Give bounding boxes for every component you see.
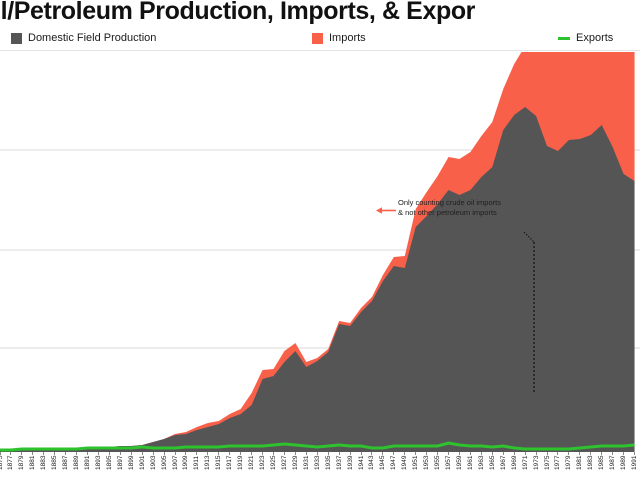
x-axis-tick-label: 1933 xyxy=(313,456,322,480)
x-axis-tick-mark xyxy=(196,452,197,455)
x-axis-tick-label: 1943 xyxy=(367,456,376,480)
x-axis-tick: 1901 xyxy=(138,452,147,480)
x-axis-tick-label: 1941 xyxy=(357,456,366,480)
chart-page: . Oil/Petroleum Production, Imports, & E… xyxy=(0,0,640,480)
x-axis-tick: 1961 xyxy=(466,452,475,480)
x-axis-tick-label: 1981 xyxy=(575,456,584,480)
x-axis-tick-label: 1923 xyxy=(258,456,267,480)
square-swatch-icon xyxy=(11,33,22,44)
x-axis-tick-mark xyxy=(142,452,143,455)
x-axis-tick: 1897 xyxy=(116,452,125,480)
x-axis-tick-mark xyxy=(262,452,263,455)
x-axis-tick-label: 1945 xyxy=(378,456,387,480)
x-axis-tick-mark xyxy=(240,452,241,455)
x-axis-tick-label: 1917 xyxy=(225,456,234,480)
x-axis-tick-mark xyxy=(459,452,460,455)
x-axis-tick: 1973 xyxy=(532,452,541,480)
x-axis-tick-label: 1991 xyxy=(630,456,639,480)
x-axis-tick-mark xyxy=(109,452,110,455)
x-axis-tick: 1911 xyxy=(192,452,201,480)
x-axis-tick: 1895 xyxy=(105,452,114,480)
x-axis-tick: 1969 xyxy=(510,452,519,480)
x-axis-tick-label: 1915 xyxy=(214,456,223,480)
x-axis-tick-mark xyxy=(131,452,132,455)
x-axis-tick-mark xyxy=(65,452,66,455)
x-axis-tick-label: 1913 xyxy=(203,456,212,480)
legend-label: Exports xyxy=(576,32,613,44)
x-axis-tick-mark xyxy=(120,452,121,455)
x-axis-tick: 1967 xyxy=(499,452,508,480)
x-axis-tick-mark xyxy=(153,452,154,455)
x-axis-tick: 1879 xyxy=(17,452,26,480)
x-axis-tick: 1899 xyxy=(127,452,136,480)
x-axis-tick-mark xyxy=(371,452,372,455)
x-axis-tick-mark xyxy=(525,452,526,455)
x-axis-tick-label: 1967 xyxy=(499,456,508,480)
x-axis-tick-label: 1971 xyxy=(521,456,530,480)
x-axis-tick-label: 1989 xyxy=(619,456,628,480)
x-axis-tick-label: 1951 xyxy=(411,456,420,480)
x-axis-tick-mark xyxy=(415,452,416,455)
x-axis-tick-label: 1931 xyxy=(302,456,311,480)
x-axis-tick-mark xyxy=(350,452,351,455)
annotation-arrow-icon xyxy=(376,206,396,215)
area-domestic-field-production xyxy=(0,107,635,452)
x-axis-tick-mark xyxy=(87,452,88,455)
x-axis-tick: 1955 xyxy=(433,452,442,480)
x-axis-tick-label: 1879 xyxy=(17,456,26,480)
legend-label: Domestic Field Production xyxy=(28,32,156,44)
x-axis-tick-label: 1927 xyxy=(280,456,289,480)
chart-plot-area xyxy=(0,52,640,452)
x-axis-tick: 1903 xyxy=(149,452,158,480)
x-axis-tick-label: 1901 xyxy=(138,456,147,480)
x-axis-tick-mark xyxy=(514,452,515,455)
x-axis-tick: 1931 xyxy=(302,452,311,480)
x-axis-tick-label: 1909 xyxy=(181,456,190,480)
x-axis-tick-mark xyxy=(503,452,504,455)
x-axis-tick: 1889 xyxy=(72,452,81,480)
x-axis-tick: 1891 xyxy=(83,452,92,480)
x-axis-tick-label: 1887 xyxy=(61,456,70,480)
x-axis-tick-mark xyxy=(404,452,405,455)
x-axis-tick: 1915 xyxy=(214,452,223,480)
x-axis-tick: 1913 xyxy=(203,452,212,480)
x-axis-tick: 1905 xyxy=(160,452,169,480)
x-axis-tick: 1937 xyxy=(335,452,344,480)
x-axis-tick-label: 1987 xyxy=(608,456,617,480)
x-axis-tick-mark xyxy=(557,452,558,455)
x-axis-tick-mark xyxy=(76,452,77,455)
stacked-area-chart xyxy=(0,52,640,452)
x-axis-tick: 1941 xyxy=(357,452,366,480)
x-axis-tick: 1887 xyxy=(61,452,70,480)
x-axis-tick-mark xyxy=(317,452,318,455)
x-axis-tick-mark xyxy=(547,452,548,455)
x-axis-tick: 1989 xyxy=(619,452,628,480)
x-axis-tick: 1987 xyxy=(608,452,617,480)
x-axis-tick-mark xyxy=(328,452,329,455)
x-axis-tick: 1933 xyxy=(313,452,322,480)
x-axis-tick-label: 1907 xyxy=(171,456,180,480)
x-axis-tick: 1883 xyxy=(39,452,48,480)
x-axis-tick-mark xyxy=(185,452,186,455)
x-axis-tick: 1985 xyxy=(597,452,606,480)
x-axis-tick: 1947 xyxy=(389,452,398,480)
legend-label: Imports xyxy=(329,32,366,44)
legend-divider xyxy=(0,50,640,51)
x-axis-tick-label: 1935 xyxy=(324,456,333,480)
annotation-line-1: Only counting crude oil imports xyxy=(398,198,543,208)
x-axis-tick-label: 1889 xyxy=(72,456,81,480)
x-axis-tick-label: 1977 xyxy=(553,456,562,480)
x-axis-tick: 1977 xyxy=(553,452,562,480)
x-axis-tick-mark xyxy=(10,452,11,455)
x-axis-tick: 1979 xyxy=(564,452,573,480)
x-axis-tick: 1923 xyxy=(258,452,267,480)
x-axis-tick-label: 1965 xyxy=(488,456,497,480)
x-axis-tick-mark xyxy=(382,452,383,455)
x-axis-tick-label: 1925 xyxy=(269,456,278,480)
x-axis-tick-mark xyxy=(43,452,44,455)
x-axis-tick-label: 1929 xyxy=(291,456,300,480)
title-bar: . Oil/Petroleum Production, Imports, & E… xyxy=(0,0,640,27)
x-axis-tick-mark xyxy=(207,452,208,455)
x-axis-tick-mark xyxy=(0,452,1,455)
x-axis-tick: 1927 xyxy=(280,452,289,480)
x-axis-tick: 1921 xyxy=(247,452,256,480)
x-axis-tick: 1929 xyxy=(291,452,300,480)
x-axis-tick-mark xyxy=(492,452,493,455)
x-axis-tick-mark xyxy=(54,452,55,455)
x-axis-tick-label: 1979 xyxy=(564,456,573,480)
line-swatch-icon xyxy=(558,37,570,40)
x-axis-tick-mark xyxy=(229,452,230,455)
x-axis-tick-label: 1875 xyxy=(0,456,5,480)
x-axis-tick-label: 1885 xyxy=(50,456,59,480)
x-axis-tick-mark xyxy=(437,452,438,455)
x-axis-tick-mark xyxy=(481,452,482,455)
x-axis-tick-label: 1893 xyxy=(94,456,103,480)
x-axis-tick-label: 1937 xyxy=(335,456,344,480)
x-axis-tick-label: 1877 xyxy=(6,456,15,480)
x-axis-tick-label: 1895 xyxy=(105,456,114,480)
x-axis-tick: 1971 xyxy=(521,452,530,480)
chart-legend: Domestic Field Production Imports Export… xyxy=(0,29,640,47)
x-axis-tick: 1885 xyxy=(50,452,59,480)
x-axis-tick: 1983 xyxy=(586,452,595,480)
x-axis-tick-label: 1919 xyxy=(236,456,245,480)
x-axis-tick: 1949 xyxy=(400,452,409,480)
x-axis-tick-label: 1903 xyxy=(149,456,158,480)
x-axis-tick-mark xyxy=(568,452,569,455)
x-axis-tick: 1981 xyxy=(575,452,584,480)
x-axis-tick-label: 1959 xyxy=(455,456,464,480)
x-axis-tick-mark xyxy=(448,452,449,455)
x-axis-tick: 1991 xyxy=(630,452,639,480)
x-axis-tick-label: 1891 xyxy=(83,456,92,480)
x-axis-tick-mark xyxy=(218,452,219,455)
x-axis-tick: 1959 xyxy=(455,452,464,480)
x-axis-tick-mark xyxy=(273,452,274,455)
x-axis-tick: 1939 xyxy=(346,452,355,480)
x-axis-tick-label: 1939 xyxy=(346,456,355,480)
x-axis-tick-label: 1921 xyxy=(247,456,256,480)
x-axis-tick-label: 1897 xyxy=(116,456,125,480)
legend-item-domestic-field-production[interactable]: Domestic Field Production xyxy=(11,29,156,47)
x-axis-tick-mark xyxy=(175,452,176,455)
chart-annotation: Only counting crude oil imports & not ot… xyxy=(398,198,543,218)
x-axis-tick: 1881 xyxy=(28,452,37,480)
x-axis-tick-label: 1985 xyxy=(597,456,606,480)
x-axis-tick-label: 1949 xyxy=(400,456,409,480)
x-axis-tick-mark xyxy=(284,452,285,455)
page-title: . Oil/Petroleum Production, Imports, & E… xyxy=(0,0,475,25)
x-axis-tick: 1935 xyxy=(324,452,333,480)
x-axis-tick-mark xyxy=(164,452,165,455)
x-axis-tick: 1953 xyxy=(422,452,431,480)
x-axis-tick-mark xyxy=(306,452,307,455)
x-axis-tick-mark xyxy=(612,452,613,455)
x-axis-tick-label: 1961 xyxy=(466,456,475,480)
x-axis-tick-mark xyxy=(361,452,362,455)
x-axis-tick-label: 1953 xyxy=(422,456,431,480)
x-axis-tick-mark xyxy=(339,452,340,455)
x-axis-tick: 1875 xyxy=(0,452,5,480)
x-axis-tick-mark xyxy=(536,452,537,455)
x-axis-tick-label: 1957 xyxy=(444,456,453,480)
x-axis-tick: 1893 xyxy=(94,452,103,480)
x-axis-tick-label: 1955 xyxy=(433,456,442,480)
x-axis-tick: 1877 xyxy=(6,452,15,480)
x-axis-tick: 1917 xyxy=(225,452,234,480)
x-axis-tick-mark xyxy=(295,452,296,455)
x-axis-tick-mark xyxy=(634,452,635,455)
x-axis-tick-label: 1883 xyxy=(39,456,48,480)
x-axis-tick: 1945 xyxy=(378,452,387,480)
x-axis-tick-mark xyxy=(623,452,624,455)
x-axis-tick: 1909 xyxy=(181,452,190,480)
x-axis-tick-mark xyxy=(590,452,591,455)
x-axis-tick-mark xyxy=(601,452,602,455)
square-swatch-icon xyxy=(312,33,323,44)
x-axis-tick-label: 1881 xyxy=(28,456,37,480)
x-axis-tick-mark xyxy=(393,452,394,455)
x-axis-tick-label: 1911 xyxy=(192,456,201,480)
x-axis-tick-mark xyxy=(32,452,33,455)
x-axis: 1875187718791881188318851887188918911893… xyxy=(0,452,640,480)
legend-item-imports[interactable]: Imports xyxy=(312,29,366,47)
x-axis-tick: 1975 xyxy=(543,452,552,480)
x-axis-tick-label: 1969 xyxy=(510,456,519,480)
x-axis-tick: 1951 xyxy=(411,452,420,480)
x-axis-tick: 1925 xyxy=(269,452,278,480)
legend-item-exports[interactable]: Exports xyxy=(558,29,613,47)
x-axis-tick-label: 1983 xyxy=(586,456,595,480)
x-axis-tick: 1965 xyxy=(488,452,497,480)
x-axis-tick-mark xyxy=(251,452,252,455)
x-axis-tick-mark xyxy=(579,452,580,455)
x-axis-tick: 1957 xyxy=(444,452,453,480)
x-axis-tick-label: 1963 xyxy=(477,456,486,480)
x-axis-tick: 1963 xyxy=(477,452,486,480)
annotation-line-2: & not other petroleum imports xyxy=(398,208,543,218)
x-axis-tick-mark xyxy=(470,452,471,455)
x-axis-tick-label: 1973 xyxy=(532,456,541,480)
x-axis-tick: 1943 xyxy=(367,452,376,480)
x-axis-tick-label: 1947 xyxy=(389,456,398,480)
x-axis-tick-label: 1975 xyxy=(543,456,552,480)
x-axis-tick: 1919 xyxy=(236,452,245,480)
x-axis-tick-label: 1905 xyxy=(160,456,169,480)
x-axis-tick-mark xyxy=(21,452,22,455)
x-axis-tick-label: 1899 xyxy=(127,456,136,480)
x-axis-tick-mark xyxy=(426,452,427,455)
x-axis-tick-mark xyxy=(98,452,99,455)
x-axis-tick: 1907 xyxy=(171,452,180,480)
